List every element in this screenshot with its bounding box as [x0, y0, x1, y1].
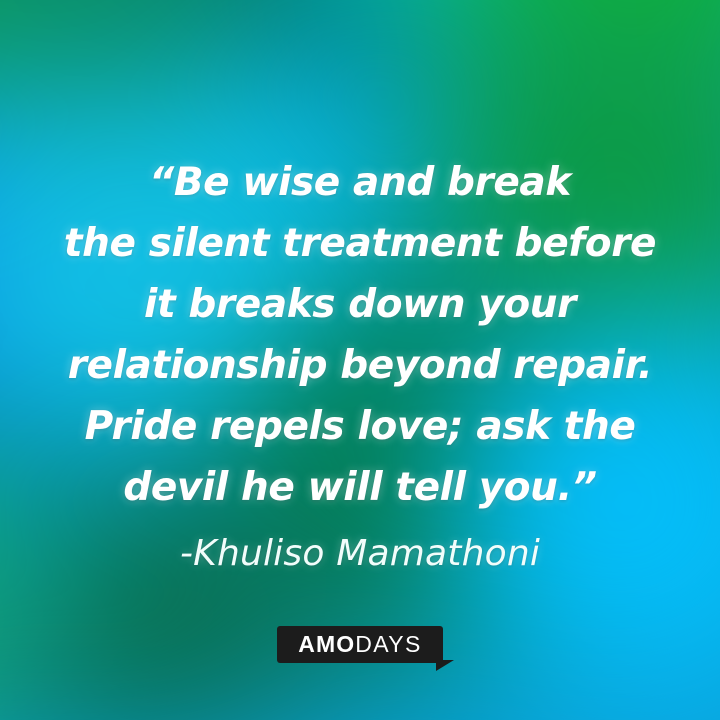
logo-wordmark-days: DAYS	[355, 633, 422, 656]
quote-line-4: relationship beyond repair.	[36, 335, 684, 396]
logo-wordmark-amo: AMO	[298, 633, 355, 656]
quote-line-3: it breaks down your	[36, 274, 684, 335]
quote-line-5: Pride repels love; ask the	[36, 396, 684, 457]
quote-attribution: -Khuliso Mamathoni	[0, 533, 720, 574]
amodays-logo: AMO DAYS	[277, 626, 443, 663]
quote-card: “Be wise and break the silent treatment …	[0, 0, 720, 720]
logo-wordmark: AMO DAYS	[277, 626, 443, 663]
quote-line-6: devil he will tell you.”	[36, 457, 684, 518]
quote-text-block: “Be wise and break the silent treatment …	[0, 152, 720, 518]
quote-line-1: “Be wise and break	[36, 152, 684, 213]
quote-line-2: the silent treatment before	[36, 213, 684, 274]
